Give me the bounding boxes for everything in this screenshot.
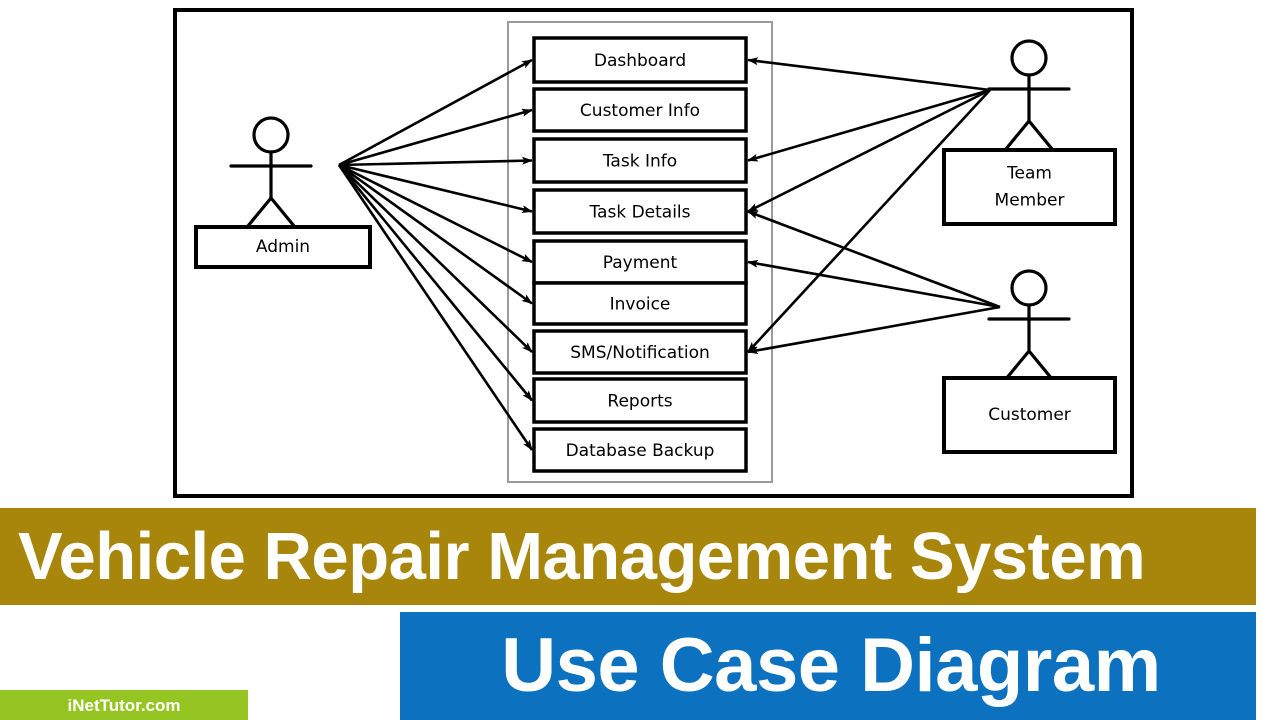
use-case-label: Dashboard bbox=[594, 51, 686, 71]
title-banner: Vehicle Repair Management System bbox=[0, 508, 1256, 605]
actor-label-team-member: Team bbox=[1006, 164, 1052, 184]
use-case-database-backup: Database Backup bbox=[534, 429, 746, 471]
actor-admin: Admin bbox=[196, 118, 370, 267]
actor-figure-team-member bbox=[989, 41, 1069, 155]
use-case-label: Task Info bbox=[602, 152, 677, 172]
subtitle-banner: Use Case Diagram bbox=[400, 612, 1256, 720]
actor-figure-customer bbox=[989, 271, 1069, 385]
association-customer-to-sms-notification bbox=[748, 307, 1000, 352]
actor-team-member: TeamMember bbox=[944, 41, 1115, 224]
brand-watermark: iNetTutor.com bbox=[0, 690, 248, 720]
subtitle-banner-text: Use Case Diagram bbox=[501, 628, 1160, 704]
use-case-label: Database Backup bbox=[566, 441, 715, 461]
use-case-sms-notification: SMS/Notification bbox=[534, 331, 746, 373]
use-case-task-info: Task Info bbox=[534, 139, 746, 182]
use-case-diagram: DashboardCustomer InfoTask InfoTask Deta… bbox=[0, 0, 1280, 505]
actor-customer: Customer bbox=[944, 271, 1115, 452]
screenshot-stage: DashboardCustomer InfoTask InfoTask Deta… bbox=[0, 0, 1280, 720]
actor-head-icon bbox=[254, 118, 288, 152]
use-case-payment: Payment bbox=[534, 241, 746, 283]
association-admin-to-task-details bbox=[339, 165, 532, 212]
use-case-label: SMS/Notification bbox=[570, 343, 710, 363]
use-case-list: DashboardCustomer InfoTask InfoTask Deta… bbox=[534, 38, 746, 471]
association-team-member-to-dashboard bbox=[748, 60, 990, 90]
use-case-label: Payment bbox=[603, 253, 678, 273]
use-case-label: Invoice bbox=[610, 295, 671, 315]
association-admin-to-customer-info bbox=[339, 110, 532, 165]
actor-label-team-member: Member bbox=[995, 191, 1065, 211]
association-admin-to-database-backup bbox=[339, 165, 532, 450]
actor-label-customer: Customer bbox=[988, 405, 1071, 425]
actor-head-icon bbox=[1012, 271, 1046, 305]
use-case-task-details: Task Details bbox=[534, 190, 746, 233]
association-customer-to-payment bbox=[748, 262, 1000, 307]
use-case-label: Task Details bbox=[588, 203, 690, 223]
brand-watermark-text: iNetTutor.com bbox=[67, 697, 180, 714]
use-case-invoice: Invoice bbox=[534, 283, 746, 324]
use-case-customer-info: Customer Info bbox=[534, 89, 746, 131]
actor-label-admin: Admin bbox=[256, 237, 310, 257]
use-case-label: Reports bbox=[607, 392, 672, 412]
use-case-label: Customer Info bbox=[580, 101, 700, 121]
use-case-reports: Reports bbox=[534, 379, 746, 422]
actor-head-icon bbox=[1012, 41, 1046, 75]
actor-label-box-team-member bbox=[944, 150, 1115, 224]
association-admin-to-dashboard bbox=[339, 60, 532, 165]
actor-figure-admin bbox=[231, 118, 311, 232]
use-case-dashboard: Dashboard bbox=[534, 38, 746, 82]
association-admin-to-task-info bbox=[339, 161, 532, 166]
title-banner-text: Vehicle Repair Management System bbox=[18, 523, 1145, 590]
